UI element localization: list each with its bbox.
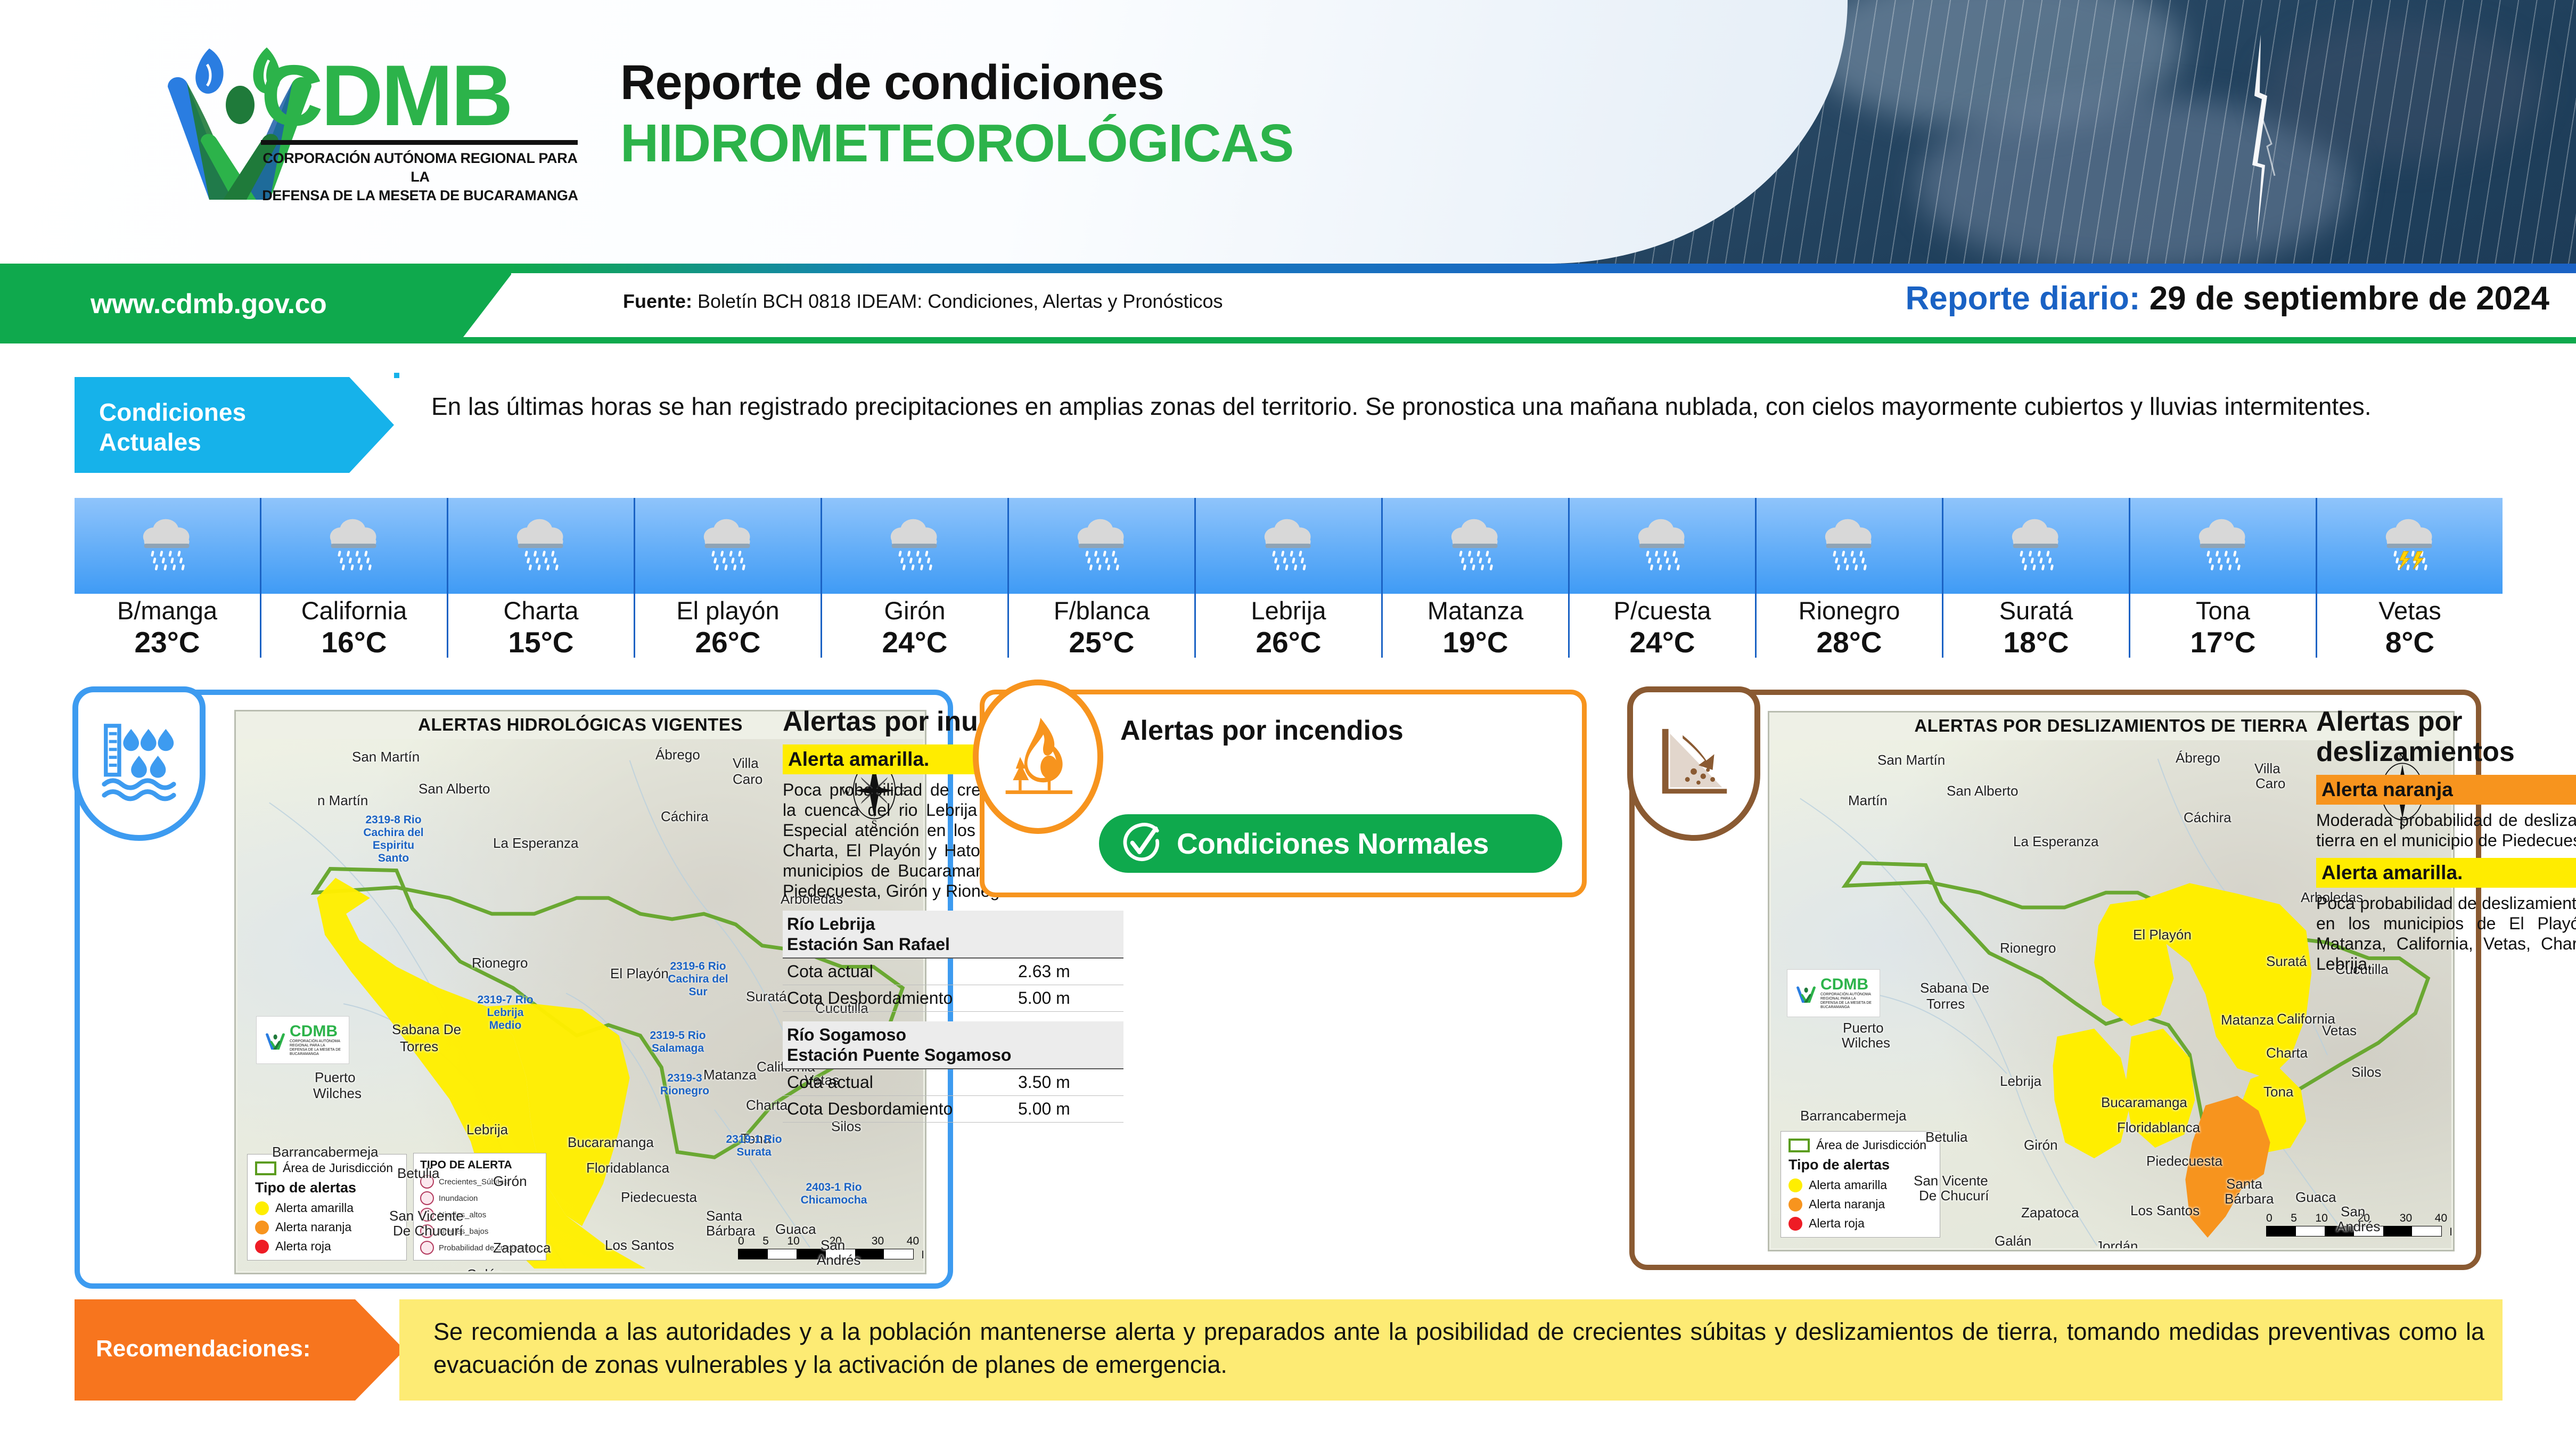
map-place-label: Martín [1848,792,1888,809]
temperature-cell-text: Girón 24°C [822,594,1007,658]
scale-tick: 40 [907,1235,919,1248]
check-circle-icon [1120,822,1163,865]
logo-subtitle-line1: CORPORACIÓN AUTÓNOMA REGIONAL PARA LA [261,149,579,186]
city-temperature: 15°C [448,626,634,659]
fire-status-label: Condiciones Normales [1177,826,1489,861]
temperature-cell-text: Tona 17°C [2130,594,2316,658]
flood-map-legend: Área de Jurisdicción Tipo de alertas Ale… [247,1154,407,1260]
map-place-label: Floridablanca [586,1160,669,1176]
map-place-label: Ábrego [2176,750,2220,766]
temperature-cell-text: B/manga 23°C [75,594,260,658]
bar-top-stripe [511,264,2576,273]
city-temperature: 28°C [1757,626,1942,659]
map-place-label: Betulia [397,1165,440,1182]
map-place-label: San Alberto [1947,783,2018,799]
map-place-label: Guaca [2295,1189,2336,1206]
station-name: Estación Puente Sogamoso [787,1045,1119,1065]
map-place-label: Galán [1995,1233,2031,1248]
temperature-cell: Lebrija 26°C [1196,498,1383,658]
map-place-label: Sabana De [1920,980,1989,996]
scale-tick: 30 [872,1235,884,1248]
map-place-label: Barrancabermeja [1800,1108,1906,1124]
map-place-label: Bárbara [2225,1191,2274,1207]
map-place-label: Cáchira [661,808,709,825]
map-place-label: Puerto [315,1069,356,1086]
map-place-label: Santa [706,1208,742,1224]
map-place-label: Rionegro [2000,940,2056,956]
map-place-label: La Esperanza [2013,833,2098,850]
map-place-label: Matanza [2221,1012,2274,1028]
logo-subtitle-line2: DEFENSA DE LA MESETA DE BUCARAMANGA [261,186,579,205]
legend-color-dot [255,1221,269,1234]
rain-cloud-icon [1009,498,1194,594]
conditions-tag-line1: Condiciones [99,397,394,427]
map-place-label: San Martín [352,749,420,765]
map-place-label: Los Santos [2130,1202,2200,1219]
map-place-label: Lebrija [2000,1073,2041,1090]
legend-color-dot [1789,1198,1802,1211]
map-place-label: Silos [2351,1064,2381,1080]
map-mini-logo: CDMB CORPORACIÓN AUTÓNOMA REGIONAL PARA … [1787,969,1880,1017]
map-place-label: Suratá [2266,953,2307,970]
map-mini-logo: CDMB CORPORACIÓN AUTÓNOMA REGIONAL PARA … [256,1016,349,1064]
temperature-cell: El playón 26°C [635,498,822,658]
temperature-cell-text: Lebrija 26°C [1196,594,1381,658]
map-place-label: Torres [1926,996,1965,1012]
map-place-label: Barrancabermeja [272,1144,378,1160]
fire-alert-card: Alertas por incendios Condiciones Normal… [980,690,1587,897]
city-temperature: 26°C [635,626,821,659]
city-temperature: 26°C [1196,626,1381,659]
city-name: Rionegro [1757,596,1942,626]
map-place-label: Galán [466,1266,503,1271]
map-place-label: Floridablanca [2117,1119,2200,1136]
city-temperature: 8°C [2317,626,2503,659]
legend-item-label: Alerta naranja [1809,1197,1885,1211]
title-line-1: Reporte de condiciones [620,53,1293,112]
report-page: CDMB CORPORACIÓN AUTÓNOMA REGIONAL PARA … [0,0,2576,1449]
landslide-alert-text: Poca probabilidad de deslizamientos de t… [2316,893,2576,974]
rain-cloud-icon [75,498,260,594]
landslide-alert-level: Alerta amarilla. [2316,858,2576,888]
conditions-tag: Condiciones Actuales [75,377,394,473]
station-measure-row: Cota Desbordamiento 5.00 m [783,1096,1123,1123]
map-mini-logo-acronym: CDMB [1820,977,1873,993]
map-place-label: Zapatoca [2021,1205,2079,1221]
city-name: California [261,596,447,626]
legend-color-dot [255,1201,269,1215]
map-place-label: Piedecuesta [621,1189,697,1206]
scale-unit: Km [922,1249,924,1262]
station-measure-row: Cota actual 2.63 m [783,959,1123,985]
map-river-label: 2319-1 Rio Surata [719,1133,789,1159]
measure-value: 3.50 m [1018,1073,1119,1092]
map-place-label: Zapatoca [493,1240,551,1256]
city-name: Tona [2130,596,2316,626]
temperature-cell-text: Vetas 8°C [2317,594,2503,658]
temperature-cell-text: El playón 26°C [635,594,821,658]
station-header: Río Lebrija Estación San Rafael [783,911,1123,959]
map-place-label: Torres [400,1038,438,1055]
temperature-cell-text: Matanza 19°C [1383,594,1568,658]
temperature-cell-text: F/blanca 25°C [1009,594,1194,658]
temperature-cell: P/cuesta 24°C [1570,498,1757,658]
recommendations-text: Se recomienda a las autoridades y a la p… [399,1299,2503,1401]
rain-cloud-icon [1757,498,1942,594]
map-place-label: Vetas [2322,1022,2357,1039]
scale-tick: 40 [2435,1212,2447,1225]
temperature-cell: Matanza 19°C [1383,498,1570,658]
map-place-label: San Vicente [389,1208,464,1224]
alert-panels: ALERTAS HIDROLÓGICAS VIGENTES [0,679,2576,1297]
alert-type-symbol-icon [420,1241,434,1255]
temperature-cell: Rionegro 28°C [1757,498,1943,658]
map-place-label: Tona [2263,1084,2293,1100]
city-name: F/blanca [1009,596,1194,626]
city-temperature: 23°C [75,626,260,659]
flood-alert-card: ALERTAS HIDROLÓGICAS VIGENTES [75,690,953,1289]
map-place-label: Charta [2266,1045,2308,1061]
map-place-label: El Playón [2133,927,2192,943]
rain-cloud-icon [261,498,447,594]
landslide-alert-text: Moderada probabilidad de deslizamientos … [2316,810,2576,850]
map-place-label: Girón [2024,1137,2058,1153]
map-river-label: 2319-6 Rio Cachira del Sur [663,960,733,998]
lightning-bolt-icon [2241,32,2278,245]
city-temperature: 17°C [2130,626,2316,659]
map-place-label: Betulia [1925,1129,1968,1145]
map-place-label: Rionegro [472,955,528,971]
map-place-label: Andrés [817,1252,860,1268]
map-mini-logo-acronym: CDMB [290,1024,342,1039]
fire-status-badge: Condiciones Normales [1099,814,1562,873]
map-place-label: Jordán [2096,1238,2138,1248]
station-measure-row: Cota actual 3.50 m [783,1069,1123,1096]
flood-station-tables: Río Lebrija Estación San RafaelCota actu… [783,911,1123,1123]
map-place-label: Villa [2254,760,2280,777]
legend-title: Tipo de alertas [1789,1157,1932,1173]
map-place-label: Bucaramanga [568,1134,654,1151]
website-url[interactable]: www.cdmb.gov.co [91,288,326,320]
map-place-label: Girón [493,1173,527,1190]
map-river-label: 2319-7 Rio Lebrija Medio [471,994,540,1032]
scale-unit: Km [2450,1226,2452,1239]
source-label: Fuente: [623,290,692,312]
landslide-map-title: ALERTAS POR DESLIZAMIENTOS DE TIERRA [1769,716,2453,736]
scale-tick: 5 [762,1235,769,1248]
city-temperature: 16°C [261,626,447,659]
map-place-label: San Martín [1877,752,1945,768]
conditions-tag-line2: Actuales [99,427,394,457]
map-place-label: Wilches [313,1085,362,1102]
report-date-label: Reporte diario: [1906,280,2140,317]
river-name: Río Lebrija [787,914,1119,934]
map-place-label: Andrés [2336,1218,2380,1235]
city-temperature: 24°C [822,626,1007,659]
legend-item-label: Alerta roja [275,1239,331,1254]
map-place-label: Lebrija [466,1121,508,1138]
recommendations-section: Recomendaciones: Se recomienda a las aut… [75,1299,2503,1401]
alert-type-item: Inundacion [420,1191,539,1205]
fire-badge [973,680,1103,834]
city-temperature: 18°C [1943,626,2129,659]
map-place-label: San [2341,1204,2365,1220]
water-level-gauge-icon [99,721,179,806]
legend-items: Alerta amarilla Alerta naranja Alerta ro… [255,1201,399,1254]
map-place-label: Ábrego [655,747,700,763]
legend-color-dot [255,1240,269,1254]
map-place-label: De Chucurí [393,1223,463,1239]
rain-cloud-icon [448,498,634,594]
rain-cloud-icon [1570,498,1755,594]
temperature-cell: Girón 24°C [822,498,1009,658]
city-name: Suratá [1943,596,2129,626]
jurisdiction-label: Área de Jurisdicción [283,1161,393,1175]
temperature-cell: F/blanca 25°C [1009,498,1196,658]
measure-value: 2.63 m [1018,962,1119,981]
rain-cloud-icon [822,498,1007,594]
scale-tick: 0 [2266,1212,2273,1225]
flood-badge [72,686,206,841]
map-river-label: 2319-5 Rio Salamaga [643,1029,712,1055]
measure-label: Cota Desbordamiento [787,1099,953,1119]
map-place-label: Bucaramanga [2101,1094,2187,1111]
map-place-label: La Esperanza [493,835,578,852]
page-title: Reporte de condiciones HIDROMETEOROLÓGIC… [620,53,1293,175]
map-river-label: 2319-8 Rio Cachira del Espiritu Santo [359,814,428,865]
temperature-cell: B/manga 23°C [75,498,261,658]
measure-label: Cota actual [787,962,873,981]
legend-color-dot [1789,1217,1802,1231]
info-bar: www.cdmb.gov.co Fuente: Boletín BCH 0818… [0,264,2576,343]
fire-heading: Alertas por incendios [1120,716,1404,746]
city-temperature: 25°C [1009,626,1194,659]
map-place-label: Piedecuesta [2146,1153,2222,1169]
header-banner: CDMB CORPORACIÓN AUTÓNOMA REGIONAL PARA … [0,0,2576,264]
report-date-line: Reporte diario: 29 de septiembre de 2024 [1906,280,2549,317]
legend-item: Alerta amarilla [1789,1178,1932,1192]
map-place-label: Guaca [775,1221,816,1238]
temperature-cell-text: Rionegro 28°C [1757,594,1942,658]
map-place-label: Cáchira [2184,809,2232,826]
logo-acronym: CDMB [261,56,591,136]
station-name: Estación San Rafael [787,934,1119,954]
temperature-cell: Vetas 8°C [2317,498,2503,658]
source-line: Fuente: Boletín BCH 0818 IDEAM: Condicio… [623,290,1223,313]
scale-tick: 5 [2291,1212,2297,1225]
scale-tick: 30 [2400,1212,2412,1225]
report-date-value: 29 de septiembre de 2024 [2150,280,2549,317]
city-name: Matanza [1383,596,1568,626]
alert-type-label: Inundacion [439,1194,478,1203]
map-mini-logo-sub: CORPORACIÓN AUTÓNOMA REGIONAL PARA LA DE… [290,1039,342,1057]
city-name: B/manga [75,596,260,626]
legend-item: Alerta roja [1789,1216,1932,1231]
temperature-cell-text: Charta 15°C [448,594,634,658]
forest-fire-icon [998,713,1078,801]
recommendations-tag: Recomendaciones: [75,1299,405,1401]
flood-map-title: ALERTAS HIDROLÓGICAS VIGENTES [236,715,925,735]
measure-value: 5.00 m [1018,988,1119,1008]
city-name: Charta [448,596,634,626]
current-conditions-section: Condiciones Actuales En las últimas hora… [75,373,2503,477]
rain-cloud-icon [1196,498,1381,594]
map-place-label: Puerto [1843,1020,1884,1036]
conditions-text: En las últimas horas se han registrado p… [399,373,2503,477]
map-place-label: Caro [2255,775,2285,792]
map-place-label: San [821,1237,845,1254]
map-place-label: De Chucurí [1919,1188,1989,1204]
map-place-label: Charta [746,1097,787,1114]
city-temperature: 24°C [1570,626,1755,659]
station-measure-row: Cota Desbordamiento 5.00 m [783,985,1123,1012]
rain-cloud-icon [1383,498,1568,594]
measure-label: Cota Desbordamiento [787,988,953,1008]
landslide-alert-level: Alerta naranja [2316,775,2576,805]
landslide-text-column: Alertas por deslizamientos Alerta naranj… [2316,707,2576,974]
city-name: Girón [822,596,1007,626]
measure-label: Cota actual [787,1073,873,1092]
city-name: El playón [635,596,821,626]
temperature-cell-text: Suratá 18°C [1943,594,2129,658]
map-mini-logo-sub: CORPORACIÓN AUTÓNOMA REGIONAL PARA LA DE… [1820,993,1873,1010]
legend-color-dot [1789,1178,1802,1192]
legend-item-label: Alerta amarilla [1809,1178,1887,1192]
temperature-cell: Charta 15°C [448,498,635,658]
city-name: Vetas [2317,596,2503,626]
city-name: Lebrija [1196,596,1381,626]
rain-cloud-icon [1943,498,2129,594]
map-place-label: n Martín [317,792,368,809]
source-text: Boletín BCH 0818 IDEAM: Condiciones, Ale… [698,290,1223,312]
landslide-alert-card: ALERTAS POR DESLIZAMIENTOS DE TIERRA [1629,690,2481,1270]
legend-item: Alerta amarilla [255,1201,399,1215]
legend-item-label: Alerta roja [1809,1216,1865,1231]
legend-items: Alerta amarilla Alerta naranja Alerta ro… [1789,1178,1932,1231]
landslide-icon [1654,721,1734,806]
jurisdiction-swatch [255,1161,276,1175]
map-place-label: Bárbara [706,1223,756,1239]
thunderstorm-cloud-icon [2317,498,2503,594]
map-place-label: Wilches [1842,1035,1890,1051]
city-name: P/cuesta [1570,596,1755,626]
map-place-label: Suratá [746,988,787,1005]
temperature-cell-text: California 16°C [261,594,447,658]
alert-type-symbol-icon [420,1191,434,1205]
river-name: Río Sogamoso [787,1025,1119,1045]
map-place-label: Los Santos [605,1237,674,1254]
rain-cloud-icon [635,498,821,594]
legend-item: Alerta roja [255,1239,399,1254]
temperature-cell: Suratá 18°C [1943,498,2130,658]
temperature-strip: B/manga 23°C California 16°C Charta 15°C [75,498,2503,658]
legend-item: Alerta naranja [255,1220,399,1234]
map-place-label: Caro [733,771,762,788]
title-line-2: HIDROMETEOROLÓGICAS [620,112,1293,175]
jurisdiction-label: Área de Jurisdicción [1816,1138,1926,1152]
map-place-label: San Alberto [419,781,490,797]
map-place-label: San Vicente [1914,1173,1988,1189]
map-place-label: El Playón [610,965,669,982]
measure-value: 5.00 m [1018,1099,1119,1119]
map-river-label: 2319-3 Rionegro [650,1072,719,1098]
rain-cloud-icon [2130,498,2316,594]
jurisdiction-swatch [1789,1139,1810,1152]
legend-item-label: Alerta amarilla [275,1201,354,1215]
temperature-cell: Tona 17°C [2130,498,2317,658]
legend-item: Alerta naranja [1789,1197,1932,1211]
map-place-label: Sabana De [392,1021,461,1038]
legend-item-label: Alerta naranja [275,1220,351,1234]
station-header: Río Sogamoso Estación Puente Sogamoso [783,1021,1123,1069]
landslide-badge [1627,686,1760,841]
map-place-label: Santa [2226,1176,2262,1192]
temperature-cell: California 16°C [261,498,448,658]
temperature-cell-text: P/cuesta 24°C [1570,594,1755,658]
scale-tick: 10 [2315,1212,2327,1225]
map-river-label: 2403-1 Rio Chicamocha [799,1181,868,1207]
map-place-label: Villa [733,755,759,772]
landslide-alert-list: Alerta naranjaModerada probabilidad de d… [2316,775,2576,974]
cdmb-logo: CDMB CORPORACIÓN AUTÓNOMA REGIONAL PARA … [75,40,607,216]
legend-title: Tipo de alertas [255,1180,399,1196]
city-temperature: 19°C [1383,626,1568,659]
